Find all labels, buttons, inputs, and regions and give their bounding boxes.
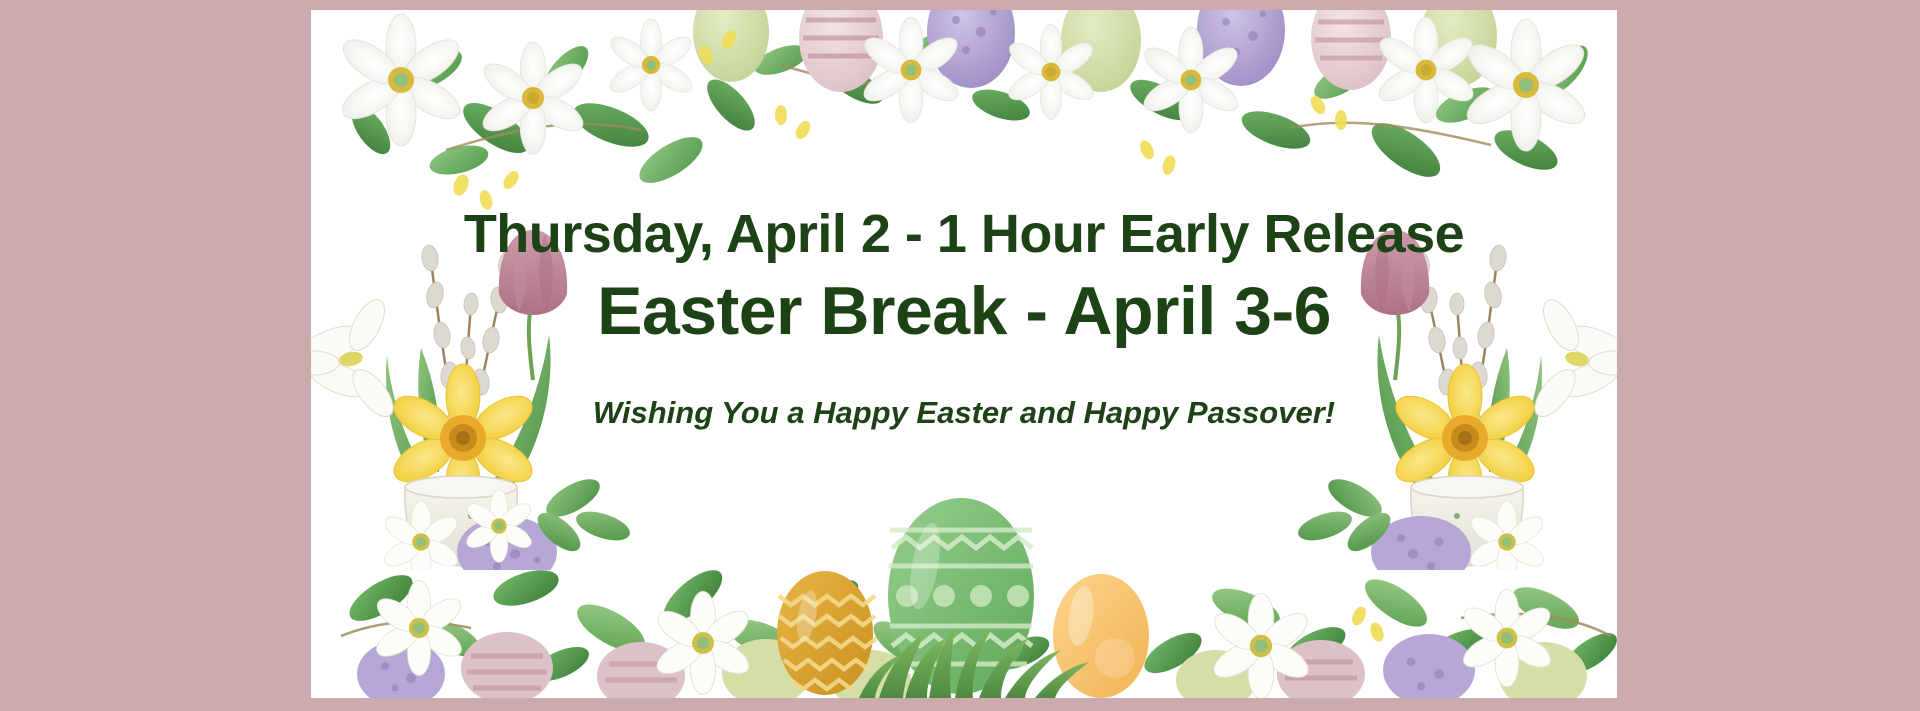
subtitle-greeting: Wishing You a Happy Easter and Happy Pas… <box>311 393 1617 433</box>
easter-egg-cluster-icon <box>729 488 1199 698</box>
easter-announcement-card: Thursday, April 2 - 1 Hour Early Release… <box>311 10 1617 698</box>
banner-stage: Thursday, April 2 - 1 Hour Early Release… <box>0 0 1920 711</box>
headline-early-release: Thursday, April 2 - 1 Hour Early Release <box>311 203 1617 265</box>
gold-egg <box>777 571 877 695</box>
announcement-text-block: Thursday, April 2 - 1 Hour Early Release… <box>311 203 1617 433</box>
headline-easter-break: Easter Break - April 3-6 <box>311 271 1617 351</box>
flower-white <box>336 14 1591 154</box>
top-floral-border-icon <box>311 10 1617 225</box>
